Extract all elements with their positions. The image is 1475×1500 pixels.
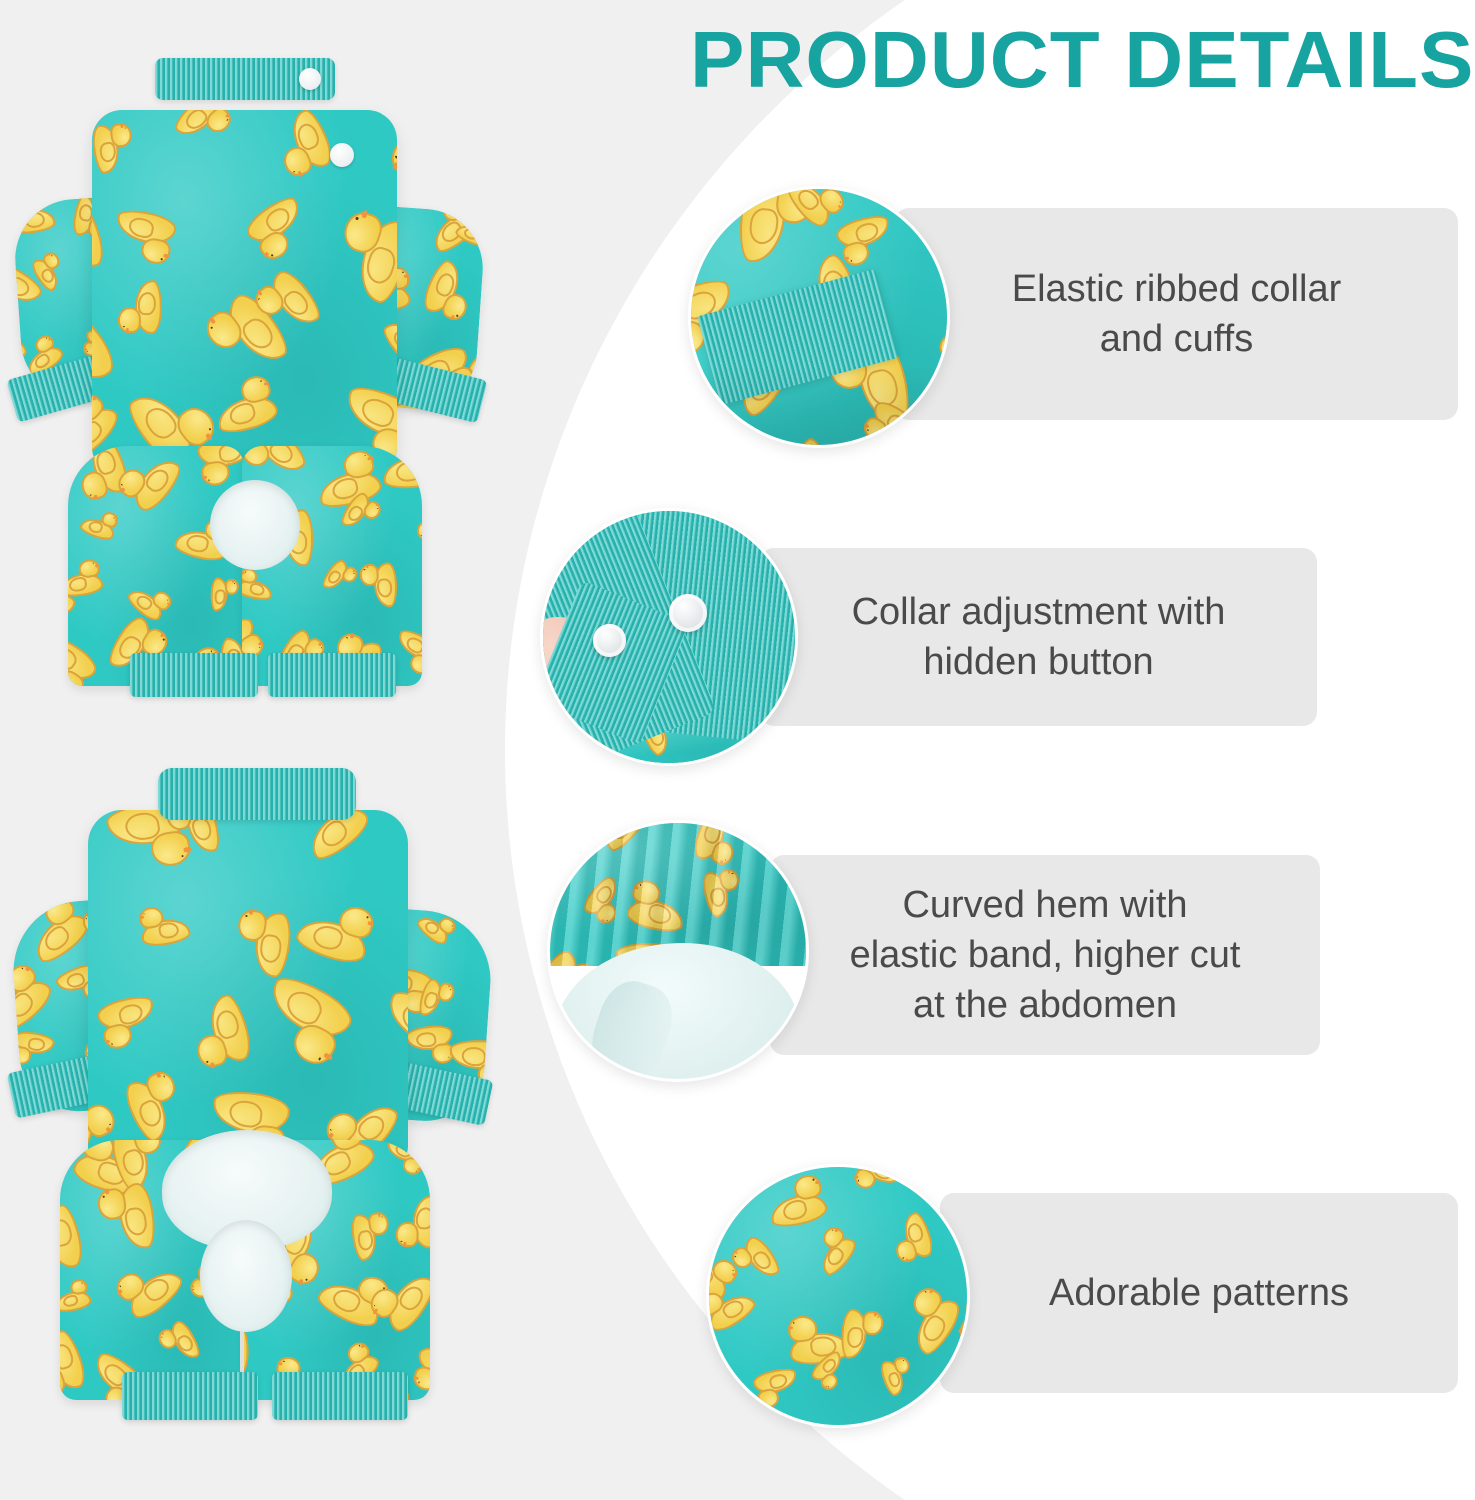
rubber-duck-motif [96, 1182, 158, 1255]
collar-ribbed-front [158, 768, 356, 820]
rubber-duck-motif [78, 504, 120, 542]
rubber-duck-motif [414, 905, 459, 948]
rubber-duck-motif [118, 280, 162, 334]
collar-snap-button [299, 68, 321, 90]
rubber-duck-motif [11, 193, 56, 235]
fabric-texture [709, 1167, 967, 1425]
rubber-duck-motif [379, 446, 422, 491]
rubber-duck-motif [268, 110, 338, 182]
leg-left-back [68, 446, 244, 686]
rubber-duck-motif [319, 556, 361, 599]
rubber-duck-motif [850, 1164, 906, 1202]
tail-opening [210, 480, 300, 570]
rubber-duck-motif [209, 373, 282, 438]
product-details-page: PRODUCT DETAILS [0, 0, 1475, 1500]
rubber-duck-motif [137, 901, 192, 949]
rubber-duck-motif [241, 192, 317, 265]
rubber-duck-motif [417, 502, 422, 543]
rubber-duck-motif [250, 969, 359, 1072]
cuff-leg-left [130, 653, 258, 697]
rubber-duck-motif [120, 1067, 194, 1146]
rubber-duck-motif [110, 1248, 187, 1324]
rubber-duck-motif [109, 207, 178, 267]
rubber-duck-motif [244, 1326, 249, 1377]
feature-label-panel-4: Adorable patterns [940, 1193, 1458, 1393]
rubber-duck-motif [88, 881, 91, 948]
rubber-duck-motif [9, 958, 57, 1034]
leg-opening [200, 1220, 292, 1332]
rubber-duck-motif [68, 631, 102, 686]
feature-label-line: at the abdomen [850, 980, 1241, 1030]
feature-image-cuff-closeup [688, 186, 950, 448]
product-photo-front-view [10, 760, 490, 1470]
feature-label-panel-2: Collar adjustment with hidden button [760, 548, 1317, 726]
rubber-duck-motif [692, 745, 765, 766]
fabric-texture [88, 810, 408, 1170]
rubber-duck-motif [382, 110, 397, 209]
rubber-duck-motif [930, 216, 950, 299]
rubber-duck-motif [706, 1164, 754, 1205]
rubber-duck-motif [232, 907, 294, 979]
rubber-duck-motif [885, 1210, 935, 1266]
feature-label-panel-1: Elastic ribbed collar and cuffs [895, 208, 1458, 420]
rubber-duck-motif [764, 1172, 831, 1231]
rubber-duck-motif [183, 991, 256, 1072]
feature-label-line: Elastic ribbed collar [1012, 264, 1341, 314]
page-title: PRODUCT DETAILS [690, 14, 1475, 106]
rubber-duck-motif [410, 1342, 430, 1400]
rubber-duck-motif [396, 1195, 430, 1249]
product-photo-back-view [10, 48, 480, 708]
rubber-duck-motif [751, 1365, 802, 1410]
rubber-duck-motif [211, 578, 240, 613]
cuff-leg-right-front [272, 1372, 408, 1420]
rubber-duck-motif [326, 206, 397, 307]
feature-label-line: Collar adjustment with [852, 587, 1226, 637]
rubber-duck-motif [379, 304, 397, 371]
rubber-duck-motif [95, 993, 161, 1052]
feature-image-curved-hem-closeup [547, 820, 809, 1082]
rubber-duck-motif [60, 1278, 92, 1314]
feature-label-line: Adorable patterns [1049, 1268, 1349, 1318]
fabric-texture [68, 446, 244, 686]
rubber-duck-motif [16, 895, 95, 969]
rubber-duck-motif [872, 186, 931, 206]
rubber-duck-motif [368, 984, 408, 1077]
rubber-duck-motif [405, 1024, 457, 1068]
rubber-duck-motif [382, 1140, 428, 1177]
rubber-duck-motif [170, 110, 235, 154]
rubber-duck-motif [196, 446, 244, 487]
rubber-duck-motif [68, 558, 104, 599]
rubber-duck-motif [911, 1164, 970, 1215]
torso-back [92, 110, 397, 470]
hidden-snap-button [669, 594, 707, 632]
torso-front [88, 810, 408, 1170]
rubber-duck-motif [92, 110, 144, 122]
photo-shadow [691, 363, 947, 445]
rubber-duck-motif [349, 1210, 394, 1262]
rubber-duck-motif [113, 446, 186, 516]
rubber-duck-motif [892, 1282, 966, 1359]
feature-label-line: elastic band, higher cut [850, 930, 1241, 980]
feature-label-line: and cuffs [1012, 314, 1341, 364]
rubber-duck-motif [840, 1308, 884, 1361]
cuff-leg-right [268, 653, 396, 697]
feature-label-line: hidden button [852, 637, 1226, 687]
rubber-duck-motif [805, 1223, 860, 1279]
rubber-duck-motif [155, 1318, 204, 1370]
rubber-duck-motif [242, 567, 276, 603]
rubber-duck-motif [419, 257, 482, 325]
feature-label-panel-3: Curved hem with elastic band, higher cut… [770, 855, 1320, 1055]
rubber-duck-motif [292, 891, 377, 968]
rubber-duck-motif [706, 1363, 735, 1422]
rubber-duck-motif [878, 1354, 918, 1398]
rubber-duck-motif [379, 810, 408, 879]
feature-image-duck-pattern-closeup [706, 1164, 970, 1428]
feature-label-line: Curved hem with [850, 880, 1241, 930]
rubber-duck-motif [60, 1202, 88, 1277]
feature-image-collar-button-closeup [540, 508, 798, 766]
collar-snap-button-secondary [330, 143, 354, 167]
rubber-duck-motif [944, 1346, 970, 1412]
cuff-leg-left-front [122, 1372, 258, 1420]
fabric-texture [92, 110, 397, 470]
rubber-duck-motif [359, 562, 397, 608]
rubber-duck-motif [833, 212, 897, 270]
rubber-duck-motif [92, 121, 137, 175]
rubber-duck-motif [92, 200, 109, 280]
